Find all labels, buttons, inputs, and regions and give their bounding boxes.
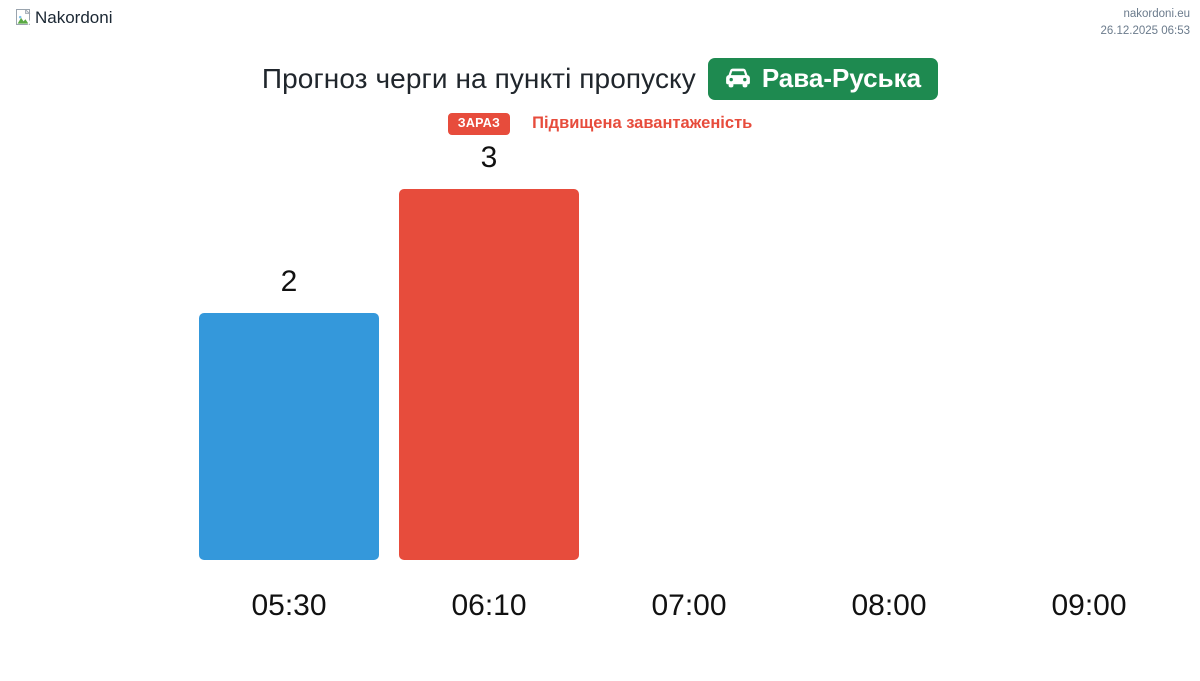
chart-bar-slot <box>599 140 779 560</box>
chart-x-tick-label: 09:00 <box>999 588 1179 624</box>
chart-bar-value-label: 3 <box>399 143 579 173</box>
chart-x-tick-label: 07:00 <box>599 588 779 624</box>
chart-bar-slot: 3 <box>399 140 579 560</box>
chart-bar-slot <box>799 140 979 560</box>
chart-bar[interactable] <box>399 189 579 560</box>
chart-x-axis: 05:3006:1007:0008:0009:00 <box>199 588 1179 628</box>
page-root: Nakordoni nakordoni.eu 26.12.2025 06:53 … <box>0 0 1200 681</box>
chart-x-tick-label: 05:30 <box>199 588 379 624</box>
chart-x-tick-label: 08:00 <box>799 588 979 624</box>
chart-bar-value-label: 2 <box>199 267 379 297</box>
chart-bar-slot: 2 <box>199 140 379 560</box>
chart-bar[interactable] <box>199 313 379 560</box>
chart-plot-area: 23 <box>199 140 1179 560</box>
chart-x-tick-label: 06:10 <box>399 588 579 624</box>
chart-bar-slot <box>999 140 1179 560</box>
queue-forecast-chart: 23 05:3006:1007:0008:0009:00 <box>0 0 1200 681</box>
